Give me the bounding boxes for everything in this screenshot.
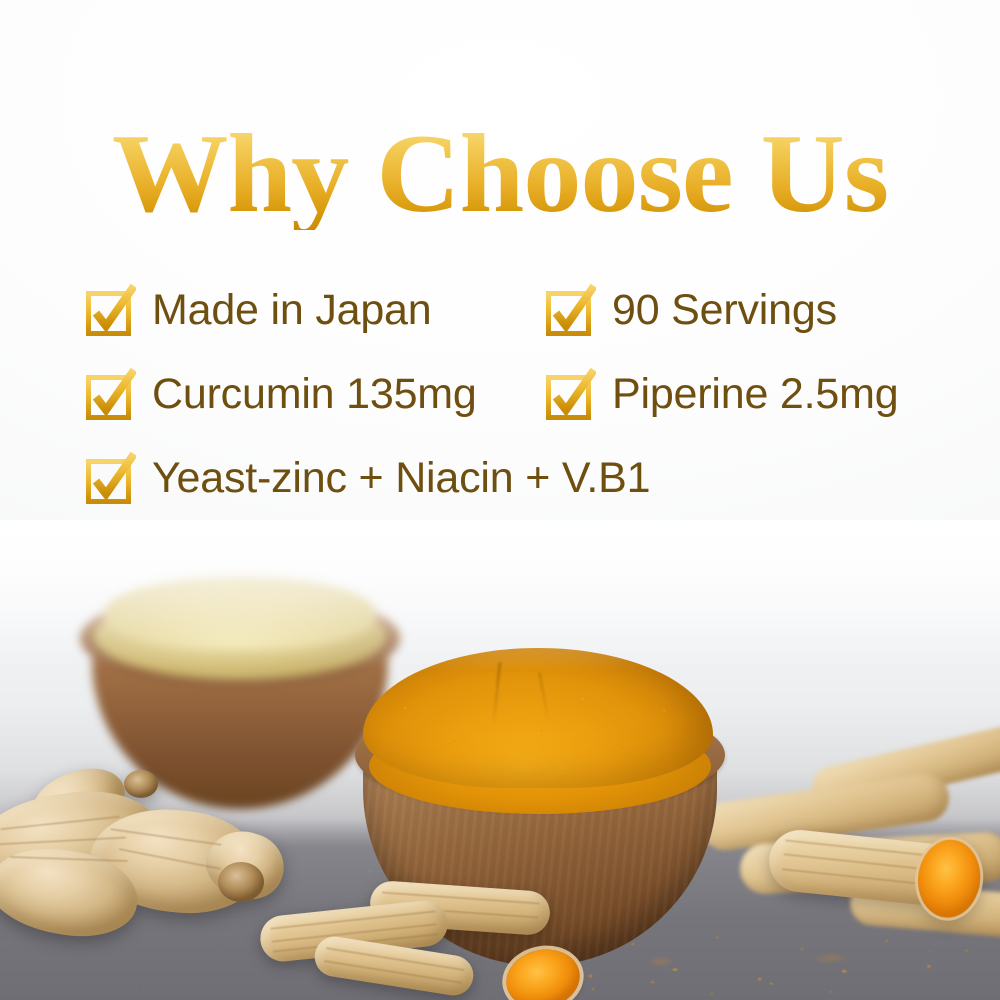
feature-label: Yeast-zinc + Niacin + V.B1 — [152, 455, 650, 501]
feature-list: Made in Japan 90 Servings — [84, 282, 964, 534]
checkbox-checked-icon — [544, 366, 596, 422]
checkbox-checked-icon — [84, 366, 136, 422]
feature-item: Yeast-zinc + Niacin + V.B1 — [84, 450, 650, 506]
page-title: Why Choose Us — [0, 118, 1000, 230]
feature-label: 90 Servings — [612, 287, 837, 333]
feature-row: Curcumin 135mg Piperine 2.5mg — [84, 366, 964, 422]
feature-label: Piperine 2.5mg — [612, 371, 898, 417]
feature-label: Made in Japan — [152, 287, 431, 333]
checkbox-checked-icon — [84, 282, 136, 338]
feature-item: Piperine 2.5mg — [544, 366, 964, 422]
checkbox-checked-icon — [544, 282, 596, 338]
content-overlay: Why Choose Us — [0, 0, 1000, 1000]
feature-item: Curcumin 135mg — [84, 366, 544, 422]
feature-row: Yeast-zinc + Niacin + V.B1 — [84, 450, 964, 506]
feature-item: Made in Japan — [84, 282, 544, 338]
feature-row: Made in Japan 90 Servings — [84, 282, 964, 338]
feature-item: 90 Servings — [544, 282, 964, 338]
why-choose-us-poster: Why Choose Us — [0, 0, 1000, 1000]
checkbox-checked-icon — [84, 450, 136, 506]
feature-label: Curcumin 135mg — [152, 371, 477, 417]
